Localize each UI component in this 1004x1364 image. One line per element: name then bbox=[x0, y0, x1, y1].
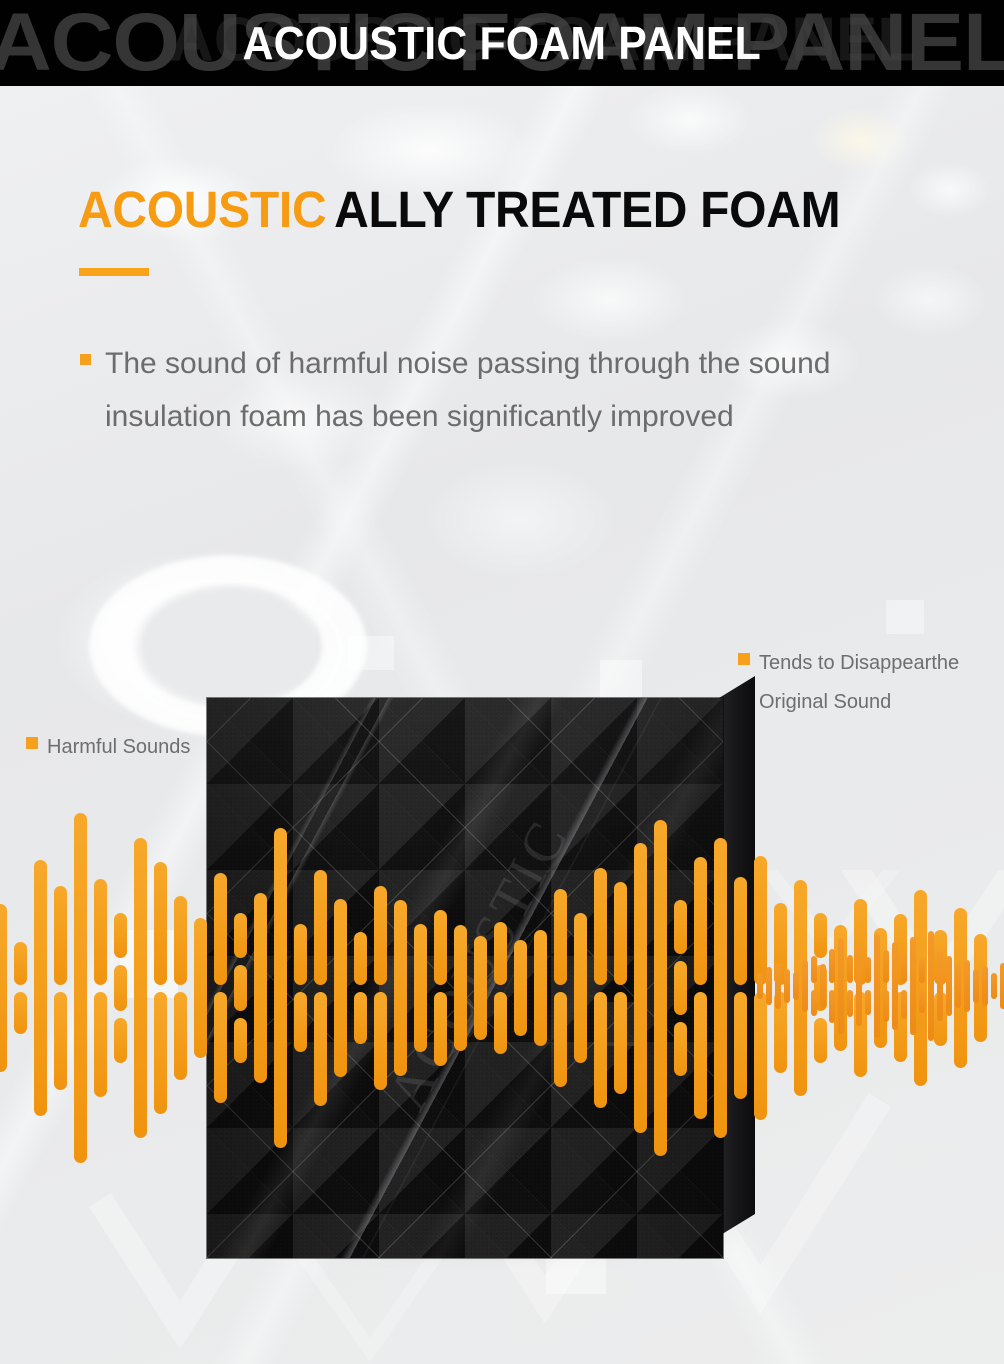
waveform-bar bbox=[775, 930, 781, 1042]
waveform-bar-segment bbox=[874, 934, 880, 1038]
waveform-bar bbox=[254, 798, 267, 1178]
waveform-bar-segment bbox=[234, 1018, 247, 1063]
waveform-bar bbox=[34, 798, 47, 1178]
waveform-bar bbox=[294, 798, 307, 1178]
waveform-bar-segment bbox=[554, 992, 567, 1088]
waveform-bar bbox=[802, 930, 808, 1042]
waveform-bar-segment bbox=[114, 913, 127, 958]
headline-underline-rule bbox=[79, 268, 149, 276]
waveform-bar-segment bbox=[454, 925, 467, 1051]
waveform-bar-segment bbox=[614, 882, 627, 985]
waveform-bar-segment bbox=[114, 965, 127, 1010]
waveform-bar-segment bbox=[34, 860, 47, 1116]
waveform-bar bbox=[514, 798, 527, 1178]
waveform-bar-segment bbox=[883, 990, 889, 1023]
waveform-bar-segment bbox=[314, 992, 327, 1107]
waveform-bar-segment bbox=[374, 992, 387, 1091]
waveform-bar bbox=[982, 930, 988, 1042]
waveform-bar-segment bbox=[811, 956, 817, 983]
waveform-bar bbox=[354, 798, 367, 1178]
waveform-bar-segment bbox=[114, 1018, 127, 1063]
waveform-bar bbox=[554, 798, 567, 1178]
waveform-bar bbox=[114, 798, 127, 1178]
waveform-bar bbox=[14, 798, 27, 1178]
waveform-bar-segment bbox=[901, 953, 907, 983]
waveform-bar bbox=[865, 930, 871, 1042]
waveform-bar bbox=[434, 798, 447, 1178]
waveform-bar-segment bbox=[54, 992, 67, 1091]
waveform-bar bbox=[919, 930, 925, 1042]
waveform-bar-segment bbox=[946, 956, 952, 1016]
waveform-bar bbox=[474, 798, 487, 1178]
waveform-bar-segment bbox=[856, 946, 862, 1026]
waveform-bar bbox=[874, 930, 880, 1042]
page-title: ACOUSTIC FOAM PANEL bbox=[0, 16, 1004, 70]
waveform-bar-segment bbox=[793, 972, 799, 1000]
waveform-bar-segment bbox=[937, 951, 943, 1021]
waveform-bar bbox=[991, 930, 997, 1042]
waveform-bar bbox=[134, 798, 147, 1178]
waveform-bar-segment bbox=[134, 838, 147, 1138]
waveform-bar bbox=[214, 798, 227, 1178]
waveform-bar bbox=[594, 798, 607, 1178]
waveform-bar bbox=[54, 798, 67, 1178]
waveform-bar-segment bbox=[955, 964, 961, 1008]
waveform-bar-segment bbox=[614, 992, 627, 1095]
waveform-bar-segment bbox=[714, 838, 727, 1138]
waveform-bar-segment bbox=[883, 950, 889, 983]
waveform-bar bbox=[901, 930, 907, 1042]
marketing-banner: ACOUSTIC FOAM PANEL ACOUSTIC FOAM PANEL … bbox=[0, 0, 1004, 1364]
waveform-bar-segment bbox=[174, 992, 187, 1081]
waveform-bar-segment bbox=[94, 879, 107, 985]
waveform-bar-segment bbox=[154, 862, 167, 985]
waveform-bar-segment bbox=[829, 990, 835, 1024]
waveform-bar-segment bbox=[494, 992, 507, 1055]
waveform-bar bbox=[973, 930, 979, 1042]
waveform-bar-segment bbox=[154, 992, 167, 1115]
waveform-bar-segment bbox=[514, 940, 527, 1036]
waveform-bar-segment bbox=[829, 949, 835, 983]
waveform-bar bbox=[694, 798, 707, 1178]
waveform-bar-segment bbox=[74, 813, 87, 1163]
waveform-bar bbox=[574, 798, 587, 1178]
waveform-bar-segment bbox=[991, 973, 997, 999]
waveform-bar-segment bbox=[865, 990, 871, 1016]
waveform-bar-segment bbox=[594, 992, 607, 1109]
waveform-bar-segment bbox=[14, 992, 27, 1035]
waveform-bar-segment bbox=[374, 886, 387, 985]
waveform-bar-segment bbox=[394, 900, 407, 1076]
waveform-bar bbox=[654, 798, 667, 1178]
bullet-square-icon bbox=[80, 354, 91, 365]
waveform-bar bbox=[154, 798, 167, 1178]
waveform-bar bbox=[829, 930, 835, 1042]
waveform-bar bbox=[614, 798, 627, 1178]
waveform-bar-segment bbox=[766, 967, 772, 1005]
waveform-bar-segment bbox=[674, 1022, 687, 1076]
waveform-bar-segment bbox=[294, 924, 307, 985]
waveform-bar bbox=[964, 930, 970, 1042]
headline: ACOUSTICALLY TREATED FOAM bbox=[78, 180, 880, 239]
waveform-bar-segment bbox=[964, 960, 970, 1012]
waveform-bar-segment bbox=[354, 932, 367, 985]
waveform-bar bbox=[234, 798, 247, 1178]
waveform-bar-segment bbox=[94, 992, 107, 1098]
waveform-bar-segment bbox=[910, 937, 916, 1035]
waveform-bar-segment bbox=[674, 961, 687, 1015]
waveform-bar bbox=[374, 798, 387, 1178]
waveform-bar bbox=[838, 930, 844, 1042]
callout-disappearing-sound: Tends to Disappearthe Original Sound bbox=[738, 644, 996, 722]
waveform-bar-segment bbox=[594, 868, 607, 985]
waveform-bar-segment bbox=[474, 936, 487, 1040]
waveform-bar bbox=[883, 930, 889, 1042]
waveform-bar bbox=[847, 930, 853, 1042]
waveform-bar-segment bbox=[982, 966, 988, 1006]
waveform-bar bbox=[928, 930, 934, 1042]
waveform-bar-segment bbox=[734, 992, 747, 1100]
waveform-bar-segment bbox=[820, 964, 826, 1008]
body-text: The sound of harmful noise passing throu… bbox=[78, 338, 908, 443]
waveform-attenuated-sound bbox=[757, 930, 1004, 1042]
waveform-bar bbox=[174, 798, 187, 1178]
waveform-bar-segment bbox=[694, 857, 707, 985]
waveform-bar-segment bbox=[892, 942, 898, 1030]
waveform-bar-segment bbox=[919, 959, 925, 983]
waveform-bar-segment bbox=[274, 828, 287, 1148]
waveform-bar bbox=[734, 798, 747, 1178]
waveform-bar bbox=[714, 798, 727, 1178]
waveform-bar-segment bbox=[928, 931, 934, 1041]
waveform-bar bbox=[494, 798, 507, 1178]
waveform-bar-segment bbox=[414, 924, 427, 1052]
waveform-bar-segment bbox=[734, 877, 747, 985]
page-title-text: ACOUSTIC FOAM PANEL bbox=[243, 16, 761, 70]
waveform-bar-segment bbox=[757, 973, 763, 999]
waveform-bar-segment bbox=[901, 990, 907, 1020]
waveform-bar bbox=[820, 930, 826, 1042]
waveform-bar bbox=[334, 798, 347, 1178]
waveform-bar bbox=[454, 798, 467, 1178]
waveform-bar-segment bbox=[775, 963, 781, 1009]
waveform-bar-segment bbox=[847, 990, 853, 1018]
callout-right-label: Tends to Disappearthe Original Sound bbox=[759, 644, 996, 722]
waveform-bar bbox=[94, 798, 107, 1178]
waveform-bar-segment bbox=[234, 965, 247, 1010]
waveform-bar-segment bbox=[434, 910, 447, 985]
waveform-bar bbox=[766, 930, 772, 1042]
waveform-bar-segment bbox=[14, 942, 27, 985]
waveform-bar-segment bbox=[234, 913, 247, 958]
waveform-bar-segment bbox=[214, 873, 227, 985]
waveform-bar bbox=[194, 798, 207, 1178]
bullet-square-icon bbox=[738, 653, 750, 665]
waveform-bar-segment bbox=[54, 886, 67, 985]
waveform-bar-segment bbox=[634, 843, 647, 1133]
headline-accent: ACOUSTIC bbox=[78, 180, 326, 239]
waveform-bar bbox=[793, 930, 799, 1042]
waveform-bar-segment bbox=[214, 992, 227, 1104]
waveform-bar-segment bbox=[554, 889, 567, 985]
waveform-bar-segment bbox=[694, 992, 707, 1120]
waveform-bar bbox=[946, 930, 952, 1042]
waveform-bar bbox=[674, 798, 687, 1178]
waveform-bar-segment bbox=[494, 922, 507, 985]
waveform-bar bbox=[892, 930, 898, 1042]
waveform-bar-segment bbox=[811, 990, 817, 1017]
waveform-bar-segment bbox=[174, 896, 187, 985]
bullet-square-icon bbox=[26, 737, 38, 749]
waveform-bar-segment bbox=[434, 992, 447, 1067]
waveform-bar bbox=[937, 930, 943, 1042]
waveform-bar bbox=[1000, 930, 1004, 1042]
waveform-bar bbox=[910, 930, 916, 1042]
waveform-bar-segment bbox=[294, 992, 307, 1053]
header-bar: ACOUSTIC FOAM PANEL ACOUSTIC FOAM PANEL … bbox=[0, 0, 1004, 86]
waveform-bar bbox=[394, 798, 407, 1178]
waveform-bar bbox=[0, 798, 7, 1178]
callout-left-label: Harmful Sounds bbox=[47, 728, 190, 767]
waveform-bar bbox=[534, 798, 547, 1178]
waveform-bar-segment bbox=[574, 913, 587, 1063]
waveform-bar-segment bbox=[784, 969, 790, 1003]
waveform-bar-segment bbox=[194, 918, 207, 1058]
waveform-bar-segment bbox=[973, 969, 979, 1003]
waveform-bar-segment bbox=[534, 930, 547, 1046]
waveform-bar-segment bbox=[334, 899, 347, 1077]
waveform-bar bbox=[74, 798, 87, 1178]
waveform-bar-segment bbox=[314, 870, 327, 985]
waveform-bar-segment bbox=[847, 955, 853, 983]
waveform-bar bbox=[955, 930, 961, 1042]
waveform-bar bbox=[274, 798, 287, 1178]
waveform-bar-segment bbox=[802, 960, 808, 1012]
waveform-bar bbox=[856, 930, 862, 1042]
waveform-bar bbox=[414, 798, 427, 1178]
waveform-bar-segment bbox=[674, 900, 687, 954]
waveform-bar bbox=[314, 798, 327, 1178]
waveform-bar-segment bbox=[838, 938, 844, 1034]
waveform-bar bbox=[757, 930, 763, 1042]
waveform-bar-segment bbox=[354, 992, 367, 1045]
waveform-bar-segment bbox=[254, 893, 267, 1083]
callout-harmful-sounds: Harmful Sounds bbox=[26, 728, 190, 767]
waveform-bar-segment bbox=[654, 820, 667, 1156]
waveform-bar bbox=[634, 798, 647, 1178]
waveform-bar bbox=[784, 930, 790, 1042]
waveform-bar-segment bbox=[0, 904, 7, 1072]
waveform-bar-segment bbox=[865, 957, 871, 983]
waveform-bar bbox=[811, 930, 817, 1042]
waveform-bar-segment bbox=[919, 990, 925, 1014]
body-copy: The sound of harmful noise passing throu… bbox=[78, 338, 908, 443]
waveform-bar-segment bbox=[1000, 963, 1004, 1009]
headline-rest: ALLY TREATED FOAM bbox=[334, 180, 840, 239]
